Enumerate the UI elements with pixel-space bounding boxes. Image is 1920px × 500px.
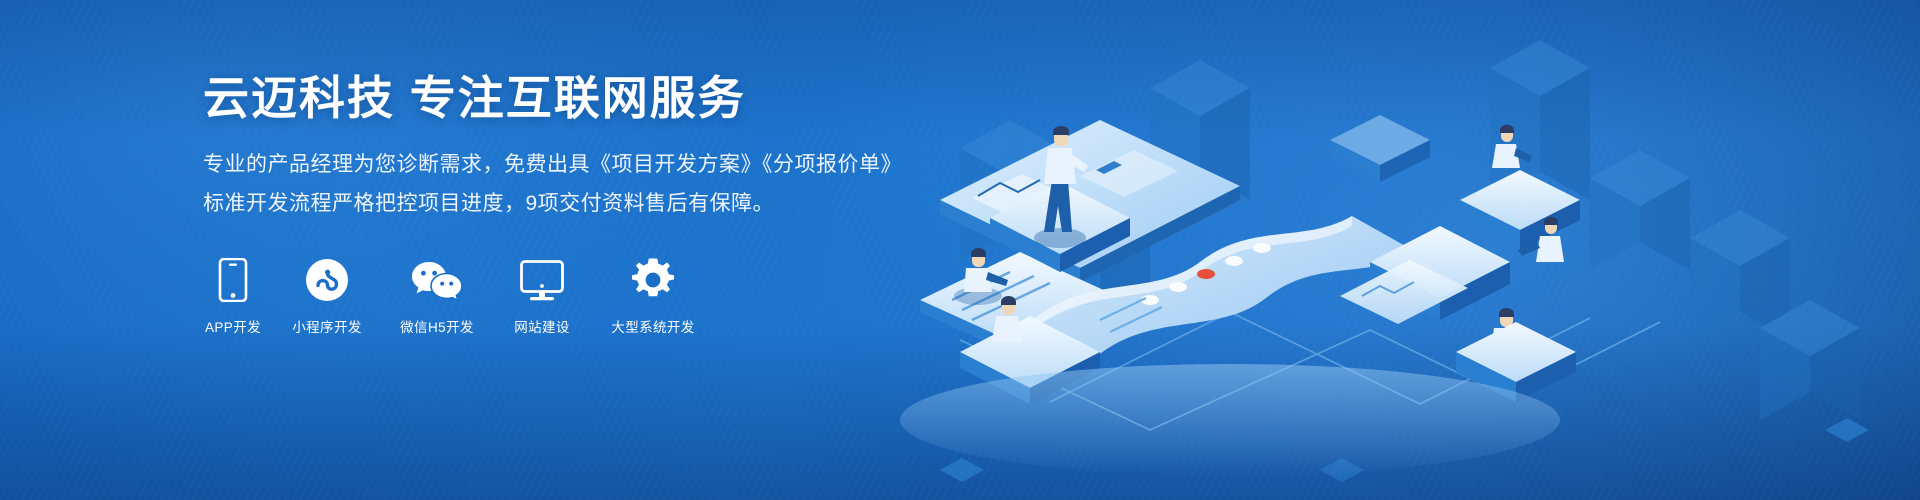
mini-program-icon — [305, 256, 349, 302]
banner-content: 云迈科技 专注互联网服务 专业的产品经理为您诊断需求，免费出具《项目开发方案》《… — [203, 72, 923, 336]
wechat-icon — [411, 256, 463, 302]
service-item-website[interactable]: 网站建设 — [505, 256, 579, 336]
service-label: 大型系统开发 — [611, 316, 694, 336]
service-list: APP开发 小程序开发 — [203, 256, 923, 336]
service-item-app[interactable]: APP开发 — [203, 256, 263, 336]
service-item-wechat-h5[interactable]: 微信H5开发 — [391, 256, 483, 336]
gear-icon — [631, 256, 675, 302]
service-label: 网站建设 — [514, 316, 570, 336]
hero-banner: 云迈科技 专注互联网服务 专业的产品经理为您诊断需求，免费出具《项目开发方案》《… — [0, 0, 1920, 500]
subtitle-line-1: 专业的产品经理为您诊断需求，免费出具《项目开发方案》《分项报价单》 — [203, 147, 923, 184]
service-label: APP开发 — [205, 316, 261, 336]
service-item-mini-program[interactable]: 小程序开发 — [285, 256, 369, 336]
service-label: 微信H5开发 — [400, 316, 474, 336]
subtitle-line-2: 标准开发流程严格把控项目进度，9项交付资料售后有保障。 — [203, 186, 923, 223]
isometric-business-analytics-illustration — [900, 0, 1920, 500]
page-title: 云迈科技 专注互联网服务 — [203, 72, 923, 125]
mobile-phone-icon — [218, 256, 248, 302]
service-label: 小程序开发 — [292, 316, 362, 336]
service-item-large-system[interactable]: 大型系统开发 — [601, 256, 705, 336]
monitor-icon — [520, 256, 564, 302]
